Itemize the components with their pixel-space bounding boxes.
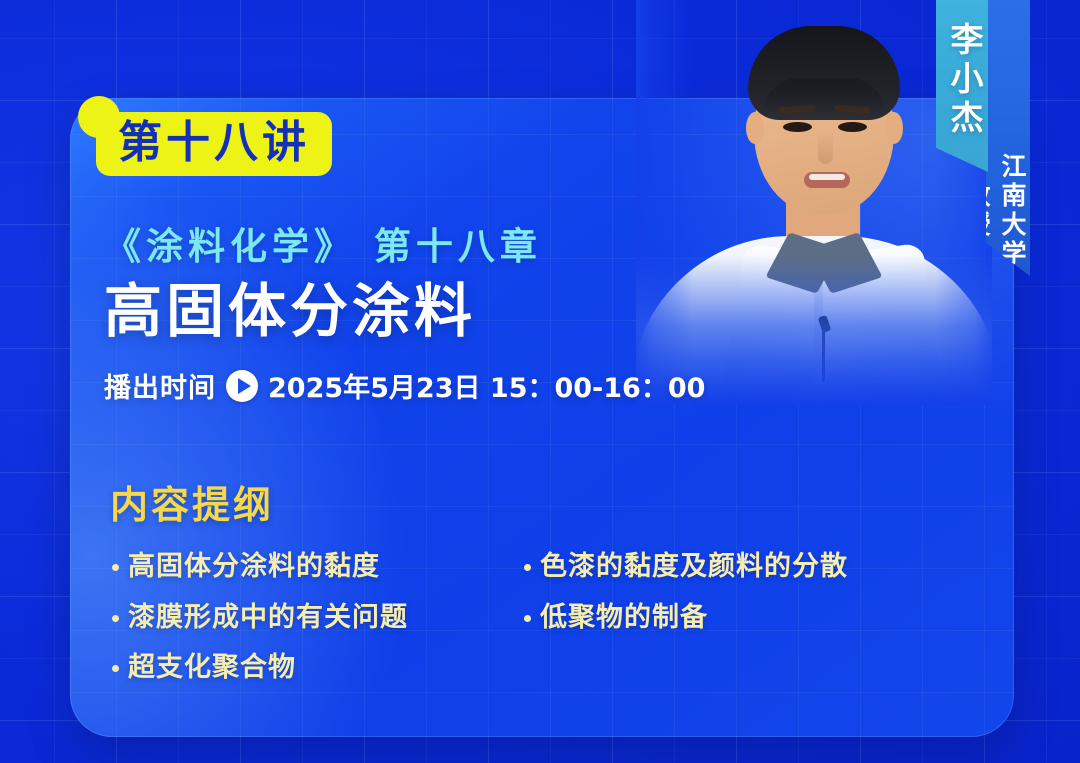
list-item: 漆膜形成中的有关问题 (112, 601, 442, 636)
outline-column-left: 高固体分涂料的黏度 漆膜形成中的有关问题 超支化聚合物 (112, 550, 442, 686)
lecture-badge: 第十八讲 (96, 112, 332, 176)
bullet-icon (112, 665, 119, 672)
course-subtitle: 《涂料化学》 第十八章 (104, 216, 542, 270)
list-item-label: 超支化聚合物 (128, 651, 296, 686)
page-title: 高固体分涂料 (104, 282, 476, 340)
bullet-icon (112, 564, 119, 571)
list-item-label: 色漆的黏度及颜料的分散 (540, 550, 848, 585)
play-icon[interactable] (226, 370, 258, 402)
list-item-label: 漆膜形成中的有关问题 (128, 601, 408, 636)
airtime-value: 2025年5月23日 15：00-16：00 (268, 366, 705, 405)
outline-columns: 高固体分涂料的黏度 漆膜形成中的有关问题 超支化聚合物 色漆的黏度及颜料的分散 … (112, 550, 942, 686)
list-item-label: 低聚物的制备 (540, 601, 708, 636)
speaker-name-banner: 李小杰 (936, 0, 988, 172)
bullet-icon (112, 615, 119, 622)
outline-column-right: 色漆的黏度及颜料的分散 低聚物的制备 (524, 550, 924, 686)
lecture-badge-group: 第十八讲 (78, 96, 332, 176)
list-item: 低聚物的制备 (524, 601, 924, 636)
speaker-affiliation-banner: 江南大学 教授 (986, 0, 1030, 276)
outline-heading: 内容提纲 (110, 474, 274, 529)
bullet-icon (524, 564, 531, 571)
airtime-row: 播出时间 2025年5月23日 15：00-16：00 (104, 366, 705, 405)
list-item: 高固体分涂料的黏度 (112, 550, 442, 585)
bullet-icon (524, 615, 531, 622)
speaker-name: 李小杰 (936, 22, 988, 139)
list-item: 色漆的黏度及颜料的分散 (524, 550, 924, 585)
list-item: 超支化聚合物 (112, 651, 442, 686)
poster-canvas: 江南大学 教授 李小杰 第十八讲 《涂料化学》 第十八章 高固体分涂料 播出时间… (0, 0, 1080, 763)
list-item-label: 高固体分涂料的黏度 (128, 550, 380, 585)
airtime-label: 播出时间 (104, 366, 216, 405)
